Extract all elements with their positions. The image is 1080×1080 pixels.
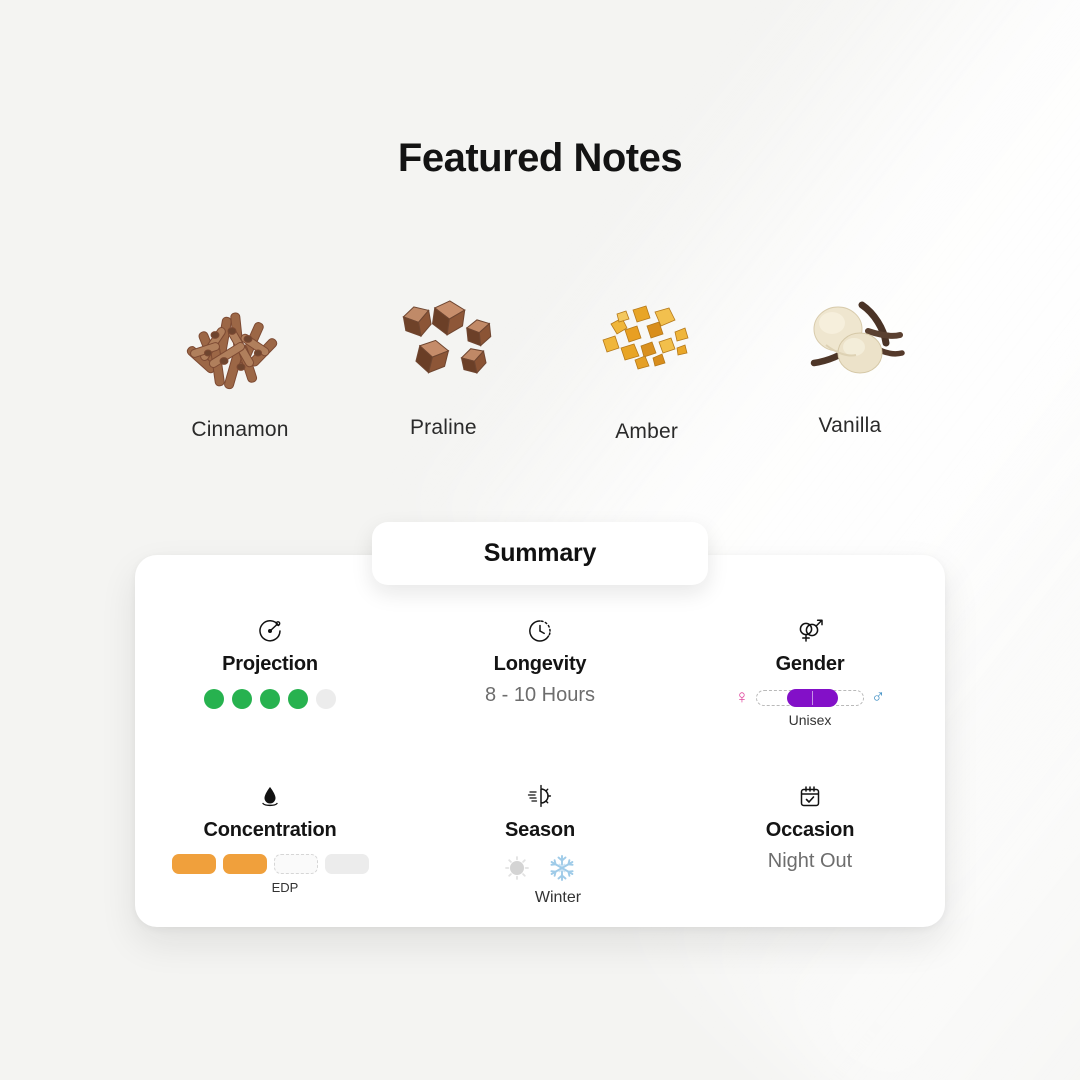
note-label: Vanilla bbox=[760, 414, 940, 438]
page-root: Featured Notes bbox=[0, 0, 1080, 1080]
summary-cell-concentration: Concentration EDP bbox=[135, 761, 405, 927]
note-item-praline[interactable]: Praline bbox=[353, 288, 533, 440]
clock-icon bbox=[527, 617, 553, 645]
summary-pill-label: Summary bbox=[484, 539, 597, 568]
cell-title: Projection bbox=[222, 653, 318, 676]
droplet-icon bbox=[257, 783, 283, 811]
cinnamon-sticks-image bbox=[150, 288, 330, 398]
note-item-vanilla[interactable]: Vanilla bbox=[760, 288, 940, 438]
summary-cell-occasion: Occasion Night Out bbox=[675, 761, 945, 927]
note-label: Cinnamon bbox=[150, 418, 330, 442]
summary-cell-gender: Gender ♀ ♂ Unisex bbox=[675, 595, 945, 761]
concentration-bar bbox=[223, 854, 267, 874]
projection-dots bbox=[204, 689, 336, 709]
projection-dot bbox=[316, 689, 336, 709]
gender-slider-track[interactable] bbox=[756, 690, 864, 706]
vanilla-pods-image bbox=[760, 288, 940, 398]
snowflake-icon[interactable] bbox=[547, 853, 577, 883]
cell-title: Concentration bbox=[204, 819, 337, 842]
amber-crystals-image bbox=[557, 288, 737, 398]
longevity-value: 8 - 10 Hours bbox=[485, 684, 595, 707]
concentration-bar bbox=[172, 854, 216, 874]
female-symbol-icon: ♀ bbox=[735, 688, 749, 707]
praline-chocolate-image bbox=[353, 288, 533, 398]
cell-title: Longevity bbox=[494, 653, 587, 676]
concentration-caption: EDP bbox=[272, 880, 299, 895]
projection-dot bbox=[232, 689, 252, 709]
summary-cell-projection: Projection bbox=[135, 595, 405, 761]
gender-slider[interactable]: ♀ ♂ bbox=[735, 688, 886, 707]
sun-cloud-icon bbox=[527, 783, 553, 811]
page-title: Featured Notes bbox=[0, 136, 1080, 181]
gender-symbols-icon bbox=[795, 617, 825, 645]
concentration-bar bbox=[325, 854, 369, 874]
concentration-bar bbox=[274, 854, 318, 874]
cell-title: Gender bbox=[776, 653, 845, 676]
gauge-icon bbox=[257, 617, 283, 645]
male-symbol-icon: ♂ bbox=[871, 688, 885, 707]
projection-dot bbox=[204, 689, 224, 709]
occasion-value: Night Out bbox=[768, 850, 852, 873]
season-options bbox=[503, 853, 577, 883]
season-caption: Winter bbox=[535, 889, 581, 907]
summary-grid: Projection Longevity 8 - 1 bbox=[135, 595, 945, 927]
summary-cell-longevity: Longevity 8 - 10 Hours bbox=[405, 595, 675, 761]
concentration-bars bbox=[172, 854, 369, 874]
calendar-check-icon bbox=[797, 783, 823, 811]
cell-title: Occasion bbox=[766, 819, 854, 842]
summary-cell-season: Season bbox=[405, 761, 675, 927]
gender-caption: Unisex bbox=[789, 712, 832, 728]
projection-dot bbox=[260, 689, 280, 709]
note-item-amber[interactable]: Amber bbox=[557, 288, 737, 444]
gender-slider-fill bbox=[787, 689, 838, 707]
cell-title: Season bbox=[505, 819, 575, 842]
projection-dot bbox=[288, 689, 308, 709]
sun-icon[interactable] bbox=[503, 854, 531, 882]
summary-pill: Summary bbox=[372, 522, 708, 585]
note-item-cinnamon[interactable]: Cinnamon bbox=[150, 288, 330, 442]
note-label: Praline bbox=[353, 416, 533, 440]
featured-notes-row: Cinnamon bbox=[150, 288, 940, 444]
note-label: Amber bbox=[557, 420, 737, 444]
